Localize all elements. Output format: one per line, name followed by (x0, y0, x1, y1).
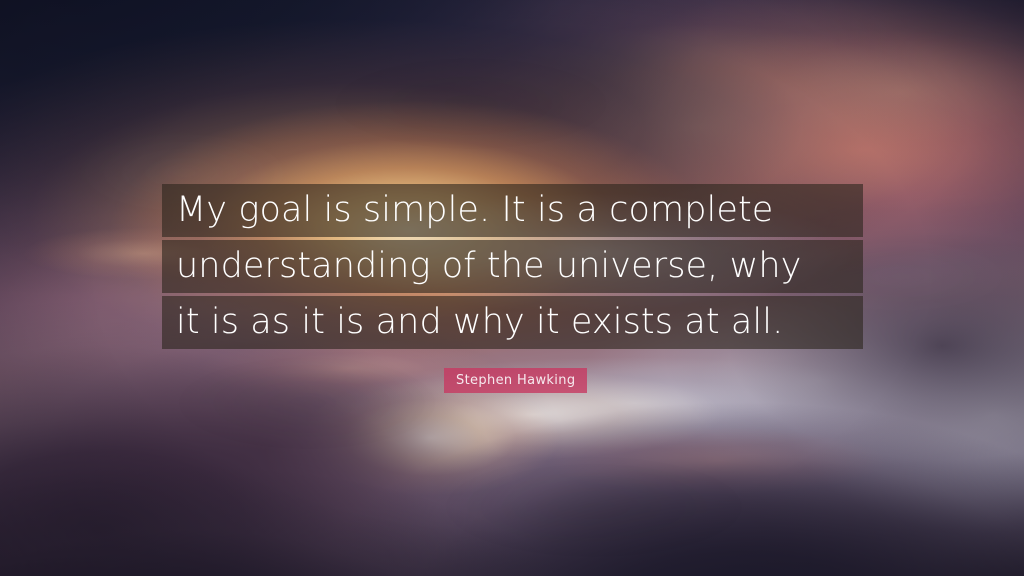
quote-line: My goal is simple. It is a complete (162, 184, 863, 237)
quote-block: My goal is simple. It is a complete unde… (162, 184, 863, 349)
quote-line: it is as it is and why it exists at all. (162, 296, 863, 349)
wallpaper-canvas: My goal is simple. It is a complete unde… (0, 0, 1024, 576)
author-name: Stephen Hawking (456, 373, 575, 388)
author-attribution-badge: Stephen Hawking (444, 368, 587, 393)
quote-line: understanding of the universe, why (162, 240, 863, 293)
